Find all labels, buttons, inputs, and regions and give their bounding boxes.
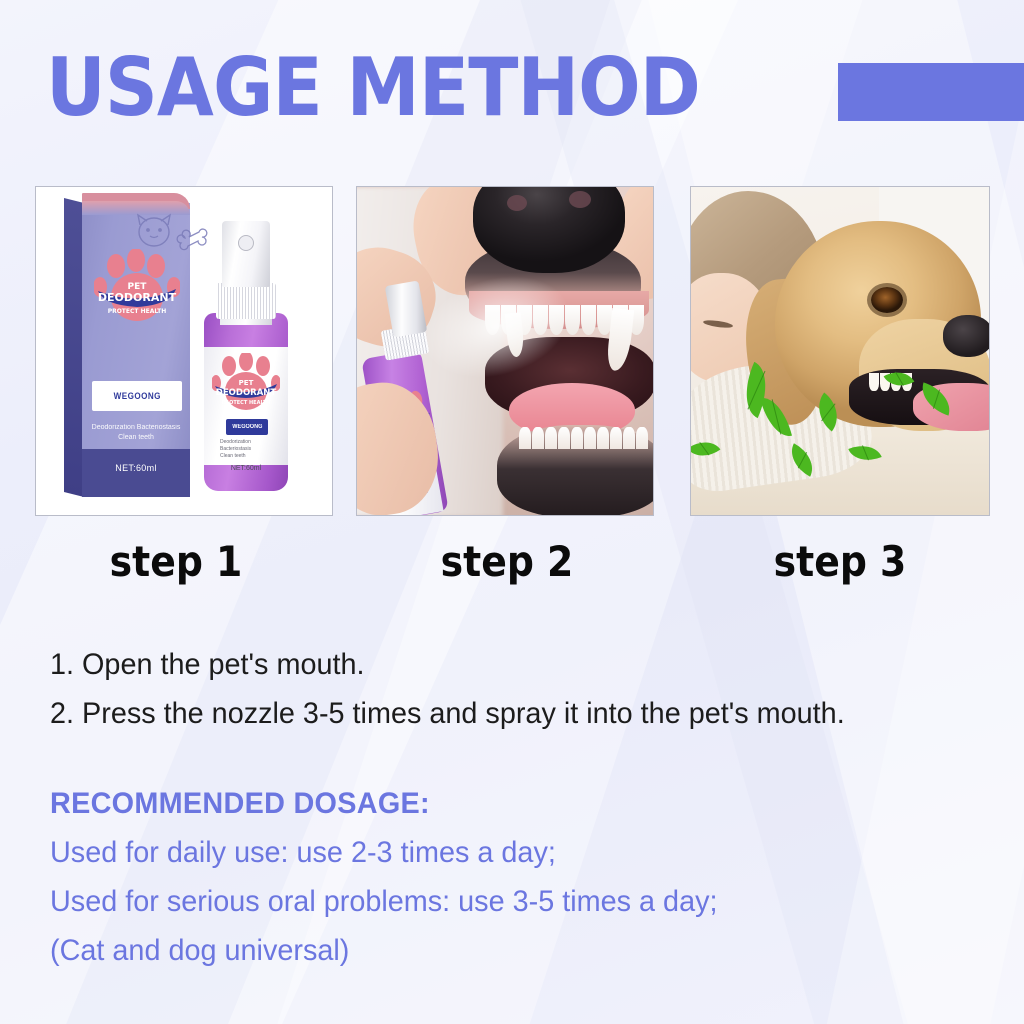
step-photo-row: PET DEODORANT PROTECT HEALTH WEGOONG Deo… <box>0 186 1024 516</box>
bottle-feature-line-2: Bacteriostasis <box>220 446 276 453</box>
step-1-caption: step 1 <box>41 534 311 590</box>
product-box-side <box>64 198 84 497</box>
product-photo-scene: PET DEODORANT PROTECT HEALTH WEGOONG Deo… <box>36 187 332 515</box>
dosage-section: RECOMMENDED DOSAGE: Used for daily use: … <box>50 780 1010 975</box>
step-captions: step 1 step 2 step 3 <box>0 534 1024 596</box>
dosage-item: Used for daily use: use 2-3 times a day; <box>50 828 972 877</box>
instruction-item: 1. Open the pet's mouth. <box>50 640 972 689</box>
bottle-feature-line-3: Clean teeth <box>220 453 276 460</box>
brand-label-box: WEGOONG <box>92 381 182 411</box>
box-feature-text: Deodorization Bacteriostasis Clean teeth <box>82 423 190 443</box>
bottle-feature-line-1: Deodorization <box>220 439 276 446</box>
instruction-item: 2. Press the nozzle 3-5 times and spray … <box>50 689 972 738</box>
dosage-item: Used for serious oral problems: use 3-5 … <box>50 877 972 926</box>
step-2-photo: RANT CT HEALTH <box>356 186 654 516</box>
step-3-caption: step 3 <box>705 534 975 590</box>
svg-text:DEODORANT: DEODORANT <box>98 291 177 304</box>
paw-logo-icon: PET DEODORANT PROTECT HEALTH <box>94 249 180 327</box>
header: USAGE METHOD <box>0 0 1024 160</box>
box-net-volume: NET:60ml <box>82 463 190 473</box>
instructions-list: 1. Open the pet's mouth. 2. Press the no… <box>50 640 1010 738</box>
spray-nozzle-cap <box>222 221 270 287</box>
svg-text:PROTECT HEALTH: PROTECT HEALTH <box>108 308 167 315</box>
page-title: USAGE METHOD <box>46 48 700 128</box>
dog-nose <box>943 315 990 357</box>
product-box-bottom-band <box>82 449 190 497</box>
cat-doodle-icon <box>132 211 176 251</box>
bottle-paw-logo-icon: PET DEODORANT PROTECT HEALTH <box>212 353 280 415</box>
step-2-caption: step 2 <box>372 534 642 590</box>
bottle-brand-label: WEGOONG <box>226 419 268 435</box>
bone-doodle-icon <box>174 227 208 251</box>
dog-eye <box>871 287 903 313</box>
dosage-heading: RECOMMENDED DOSAGE: <box>50 780 972 828</box>
bottle-net-volume: NET:60ml <box>204 465 288 472</box>
svg-text:PROTECT HEALTH: PROTECT HEALTH <box>222 400 271 406</box>
svg-text:PET: PET <box>239 379 254 387</box>
box-feature-line-1: Deodorization Bacteriostasis <box>82 423 190 433</box>
dosage-item: (Cat and dog universal) <box>50 926 972 975</box>
spray-bottle: PET DEODORANT PROTECT HEALTH WEGOONG Deo… <box>204 221 288 491</box>
step-1-photo: PET DEODORANT PROTECT HEALTH WEGOONG Deo… <box>35 186 333 516</box>
box-feature-line-2: Clean teeth <box>82 433 190 443</box>
step-3-photo <box>690 186 990 516</box>
bottle-feature-text: Deodorization Bacteriostasis Clean teeth <box>220 439 276 460</box>
title-accent-bar <box>838 63 1024 121</box>
bottle-collar <box>216 283 276 319</box>
svg-text:DEODORANT: DEODORANT <box>216 388 277 398</box>
brand-name: WEGOONG <box>113 391 160 401</box>
bottle-brand-name: WEGOONG <box>232 424 262 430</box>
dog-lower-teeth <box>519 427 649 453</box>
